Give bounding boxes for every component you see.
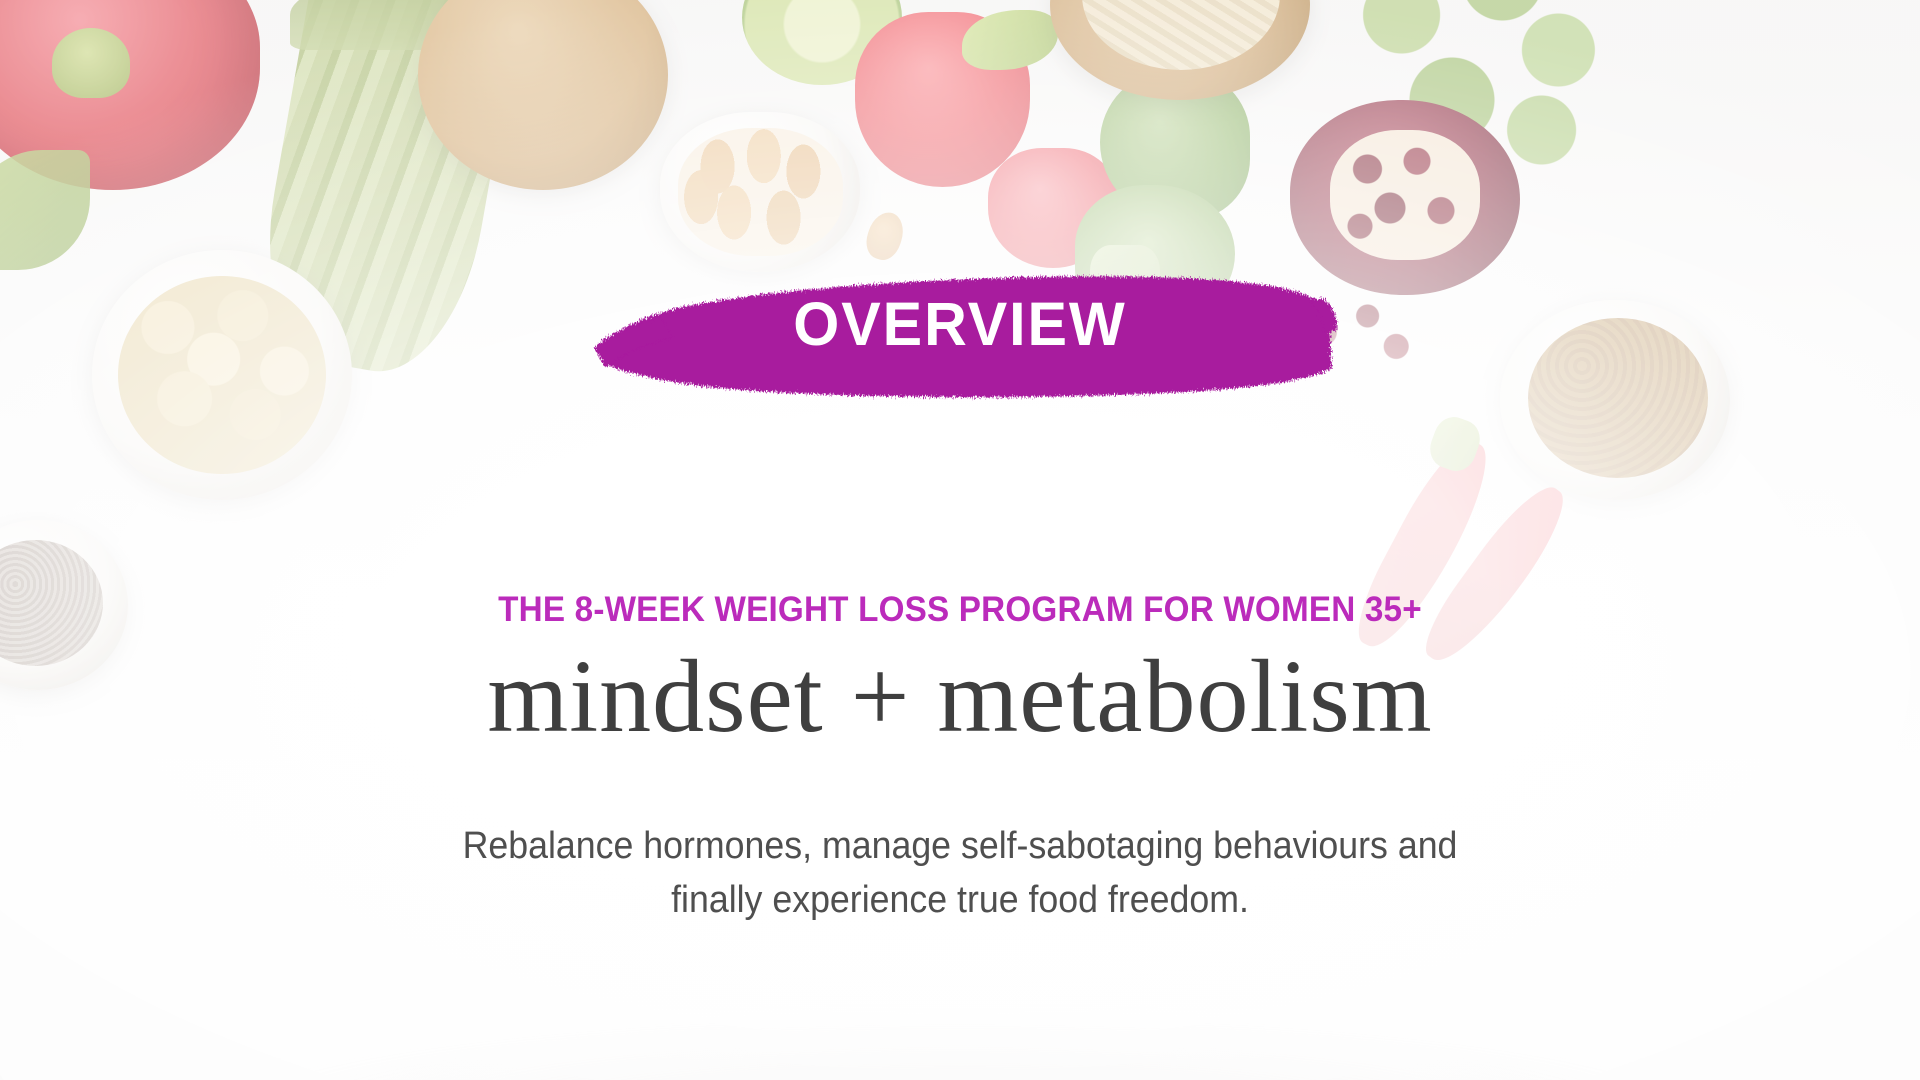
slide-content: OVERVIEW THE 8-WEEK WEIGHT LOSS PROGRAM … bbox=[0, 0, 1920, 1080]
subtitle-line-1: Rebalance hormones, manage self-sabotagi… bbox=[462, 820, 1458, 874]
subtitle-copy: Rebalance hormones, manage self-sabotagi… bbox=[462, 820, 1458, 928]
overview-brush-banner: OVERVIEW bbox=[580, 264, 1340, 404]
page-title: mindset + metabolism bbox=[0, 636, 1920, 759]
slide-canvas: OVERVIEW THE 8-WEEK WEIGHT LOSS PROGRAM … bbox=[0, 0, 1920, 1080]
overview-label: OVERVIEW bbox=[591, 294, 1328, 355]
subtitle-line-2: finally experience true food freedom. bbox=[462, 874, 1458, 928]
program-tagline: THE 8-WEEK WEIGHT LOSS PROGRAM FOR WOMEN… bbox=[48, 590, 1872, 630]
